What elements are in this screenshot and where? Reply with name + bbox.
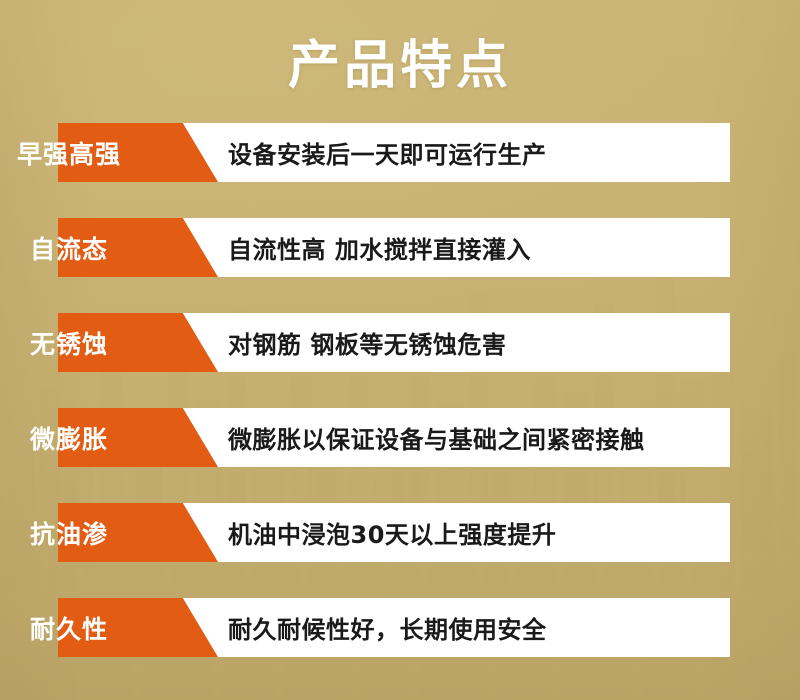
product-features-poster: 产品特点 早强高强 设备安装后一天即可运行生产 自流态 自流性高 加水搅拌直接灌…: [0, 0, 800, 700]
feature-row: 抗油渗 机油中浸泡30天以上强度提升: [0, 503, 800, 562]
feature-tag-label: 微膨胀: [10, 408, 128, 467]
feature-tag-label: 无锈蚀: [10, 313, 128, 372]
feature-list: 早强高强 设备安装后一天即可运行生产 自流态 自流性高 加水搅拌直接灌入 无锈蚀…: [0, 123, 800, 657]
feature-row: 耐久性 耐久耐候性好，长期使用安全: [0, 598, 800, 657]
feature-tag-label: 自流态: [10, 218, 128, 277]
feature-description: 微膨胀以保证设备与基础之间紧密接触: [228, 408, 645, 467]
feature-description: 设备安装后一天即可运行生产: [228, 123, 547, 182]
feature-description: 自流性高 加水搅拌直接灌入: [228, 218, 531, 277]
feature-description: 耐久耐候性好，长期使用安全: [228, 598, 547, 657]
feature-row: 早强高强 设备安装后一天即可运行生产: [0, 123, 800, 182]
feature-row: 无锈蚀 对钢筋 钢板等无锈蚀危害: [0, 313, 800, 372]
feature-description: 机油中浸泡30天以上强度提升: [228, 503, 556, 562]
feature-tag-label: 抗油渗: [10, 503, 128, 562]
feature-description: 对钢筋 钢板等无锈蚀危害: [228, 313, 506, 372]
feature-tag-label: 耐久性: [10, 598, 128, 657]
feature-row: 微膨胀 微膨胀以保证设备与基础之间紧密接触: [0, 408, 800, 467]
page-title: 产品特点: [0, 34, 800, 98]
feature-row: 自流态 自流性高 加水搅拌直接灌入: [0, 218, 800, 277]
feature-tag-label: 早强高强: [10, 123, 128, 182]
